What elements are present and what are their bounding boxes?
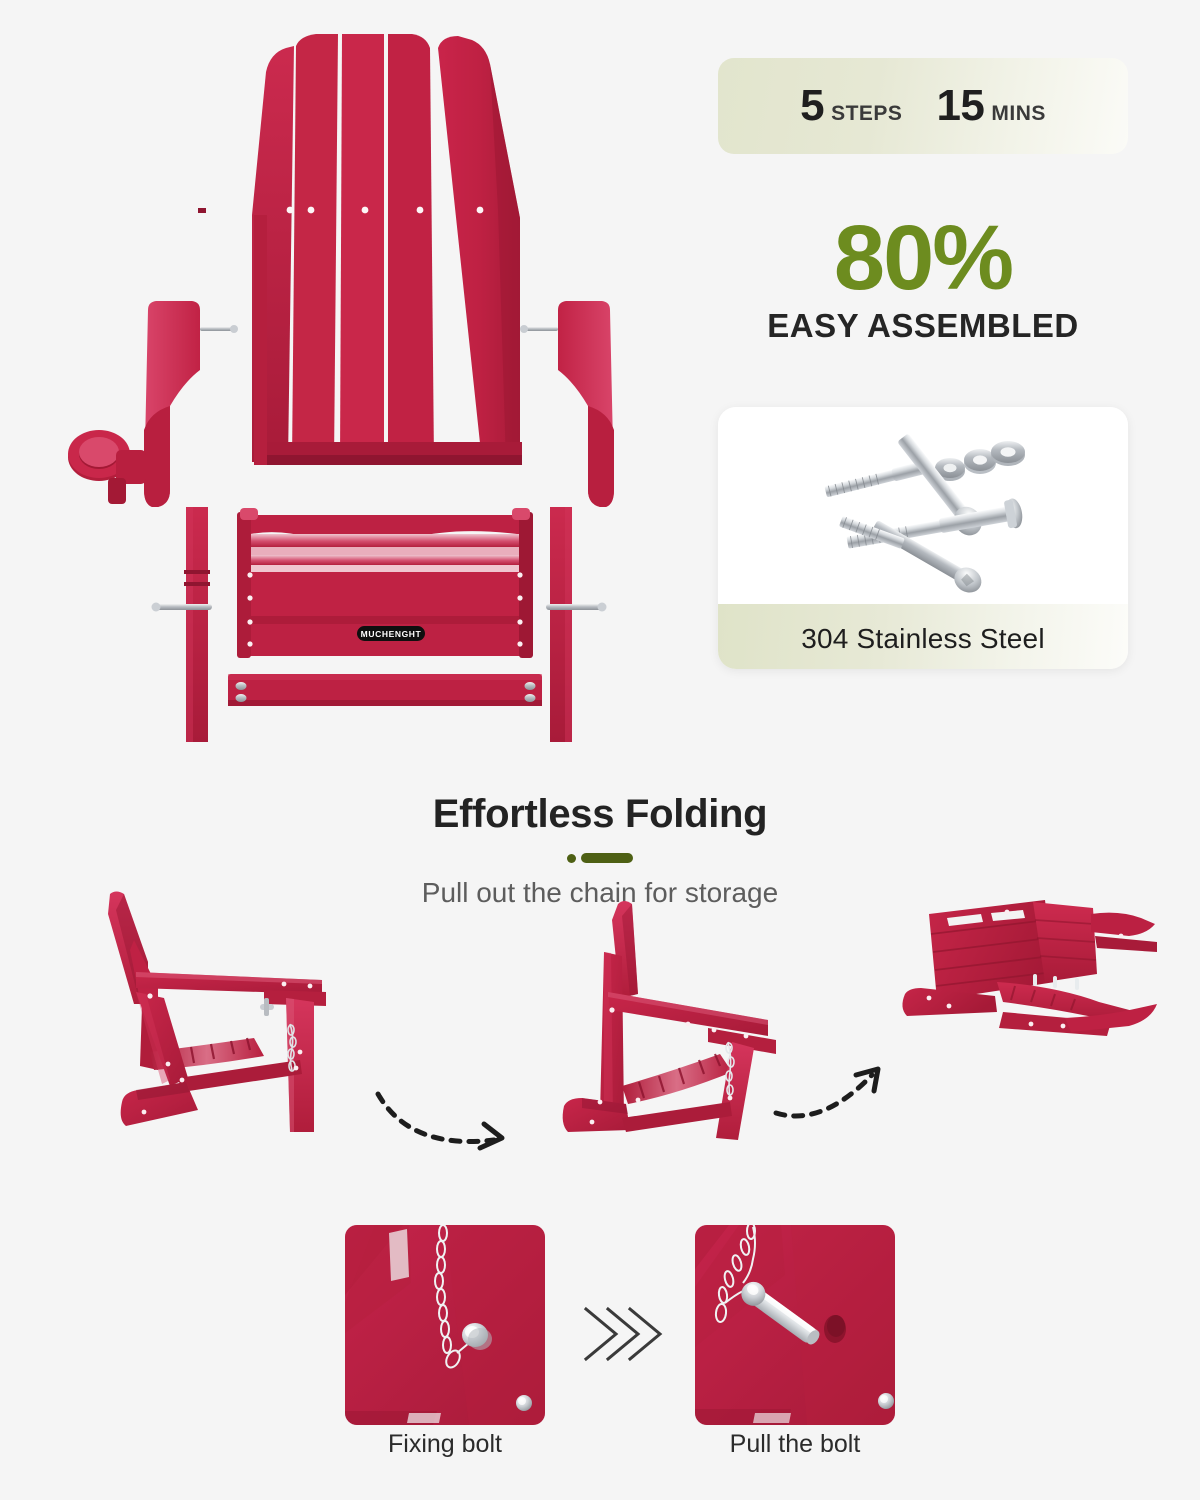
cross-brace (228, 674, 542, 706)
chair-mid-fold-svg (538, 890, 788, 1150)
chair-unfolded-svg (78, 880, 348, 1150)
seat-slat-stack: MUCHENGHT (237, 508, 533, 658)
steps-metric: 5 STEPS (800, 81, 902, 131)
chair-folded-flat-svg (885, 890, 1165, 1060)
sequence-step-unfolded (78, 880, 348, 1155)
time-unit: MINS (991, 102, 1046, 126)
steps-time-banner: 5 STEPS 15 MINS (718, 58, 1128, 154)
hardware-photo (718, 407, 1128, 604)
seat-slats (622, 1054, 732, 1104)
dashed-curved-arrow-icon (368, 1080, 528, 1160)
washer-group (935, 441, 1025, 481)
bolts-illustration (718, 407, 1128, 599)
detail-panel-pull-the-bolt (695, 1225, 895, 1425)
exploded-chair-svg: MUCHENGHT (20, 10, 700, 760)
steps-unit: STEPS (831, 102, 902, 126)
left-armrest-assembly (68, 301, 238, 742)
hardware-caption: 304 Stainless Steel (718, 604, 1128, 669)
brand-badge: MUCHENGHT (357, 626, 425, 641)
triple-chevron-right-icon (572, 1297, 692, 1371)
time-metric: 15 MINS (936, 81, 1045, 131)
steps-number: 5 (800, 81, 824, 131)
folding-title: Effortless Folding (0, 770, 1200, 837)
detail-caption-pull-the-bolt: Pull the bolt (695, 1430, 895, 1459)
divider-dot-icon (567, 854, 576, 863)
assembly-percent: 80% (718, 216, 1128, 301)
transition-chevrons (572, 1297, 692, 1371)
detail-caption-fixing-bolt: Fixing bolt (345, 1430, 545, 1459)
right-info-column: 5 STEPS 15 MINS 80% EASY ASSEMBLED (718, 58, 1130, 669)
time-number: 15 (936, 81, 984, 131)
chair-back-slats (198, 34, 522, 465)
folding-section: Effortless Folding Pull out the chain fo… (0, 770, 1200, 1500)
detail-panel-fixing-bolt (345, 1225, 545, 1425)
pull-the-bolt-closeup (695, 1225, 895, 1425)
top-section: MUCHENGHT 5 STEPS 15 (0, 0, 1200, 770)
brand-badge-text: MUCHENGHT (361, 629, 422, 639)
assembly-subtitle: EASY ASSEMBLED (718, 307, 1128, 345)
section-divider (0, 853, 1200, 863)
hardware-card: 304 Stainless Steel (718, 407, 1128, 669)
assembly-claim: 80% EASY ASSEMBLED (718, 216, 1128, 345)
sequence-step-folded-flat (885, 1060, 1165, 1235)
folding-sequence (0, 885, 1200, 1225)
divider-bar-icon (581, 853, 633, 863)
fixing-bolt-closeup (345, 1225, 545, 1425)
sequence-arrow-1 (368, 1080, 528, 1165)
exploded-product-view: MUCHENGHT (20, 10, 700, 760)
bolt-a (824, 460, 927, 498)
cup-holder-left (68, 430, 146, 504)
